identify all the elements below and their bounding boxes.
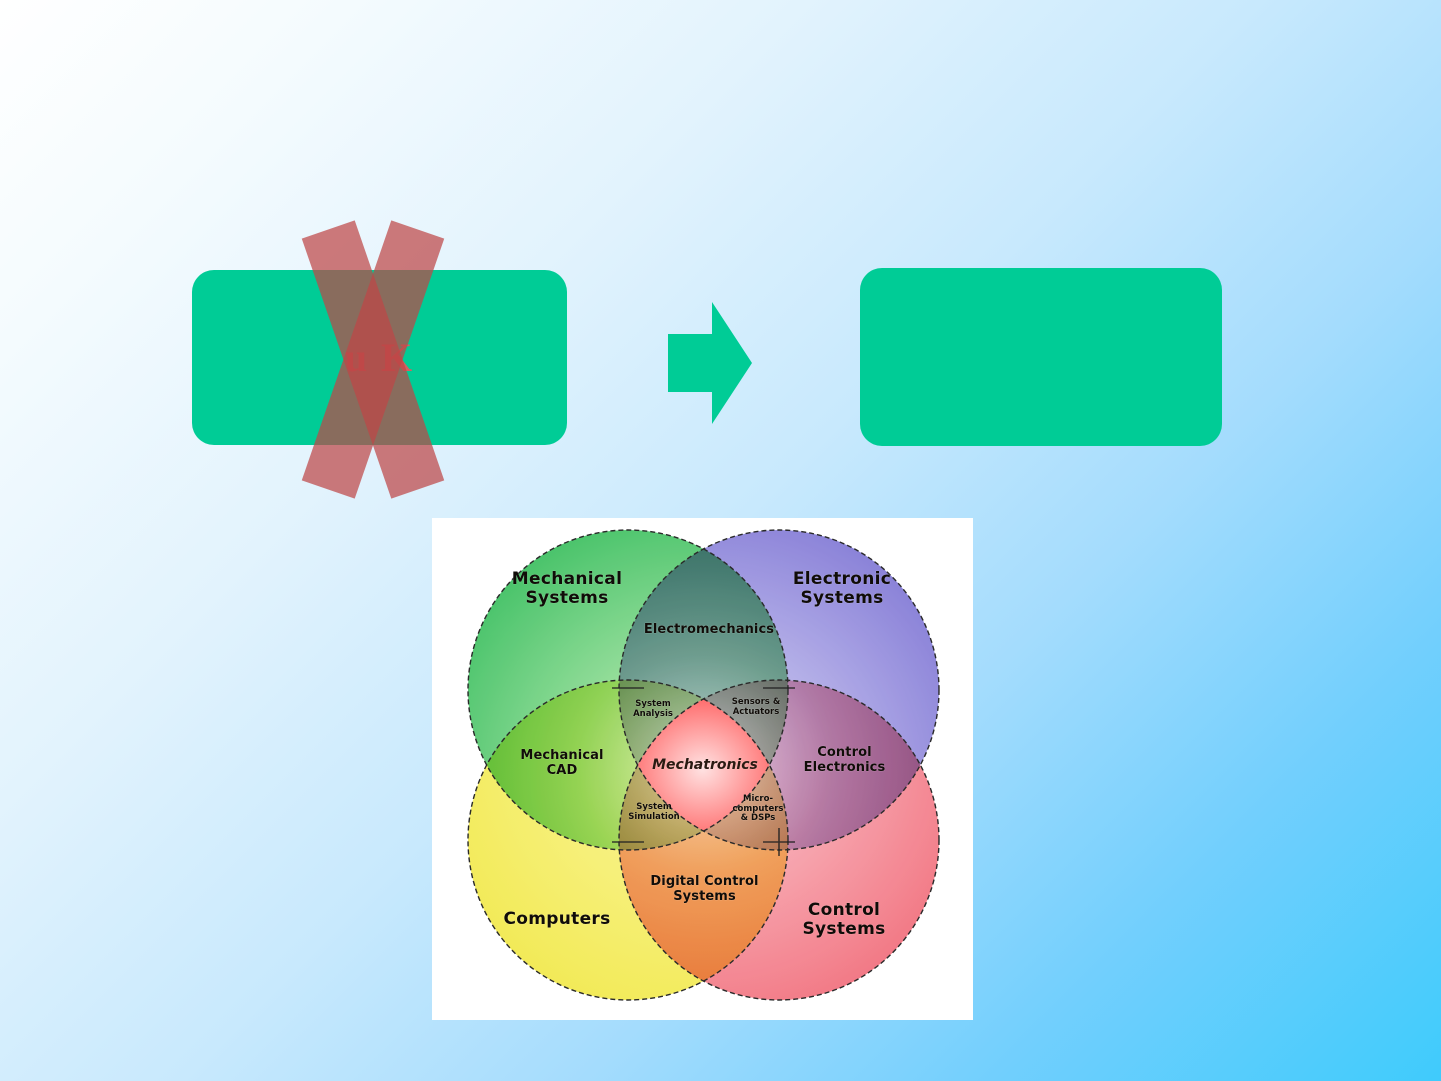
green-box-right[interactable]: [860, 268, 1222, 446]
green-box-left-label: u K: [345, 334, 414, 381]
venn-circles-svg: [432, 518, 973, 1020]
venn-stage: Mechanical Systems Electronic Systems Co…: [432, 518, 973, 1020]
right-block-arrow: [668, 300, 752, 426]
green-box-left[interactable]: u K: [192, 270, 567, 445]
mechatronics-venn-diagram: Mechanical Systems Electronic Systems Co…: [432, 518, 973, 1020]
slide-canvas: u K: [0, 0, 1441, 1081]
